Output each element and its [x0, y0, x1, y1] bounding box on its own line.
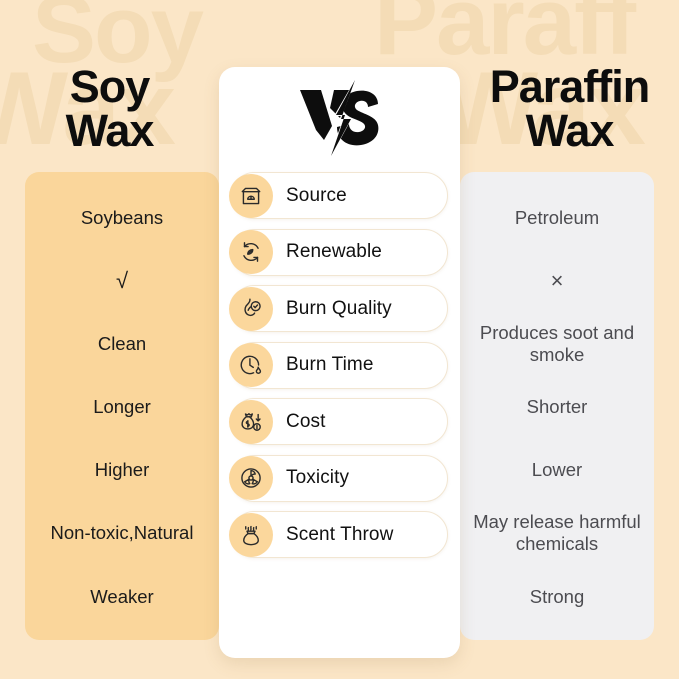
row-label-toxicity: Toxicity: [286, 467, 349, 489]
left-value-renewable: √: [35, 249, 209, 312]
row-label-burn-quality: Burn Quality: [286, 298, 392, 320]
money-bag-arrow-icon: [229, 400, 273, 444]
row-scent-throw[interactable]: Scent Throw: [231, 511, 448, 558]
left-title: Soy Wax: [0, 65, 219, 153]
row-toxicity[interactable]: Toxicity: [231, 455, 448, 502]
comparison-center-card: Source Renewable: [219, 67, 460, 658]
recycle-leaf-icon: [229, 230, 273, 274]
row-burn-quality[interactable]: Burn Quality: [231, 285, 448, 332]
soy-wax-values-panel: Soybeans √ Clean Longer Higher Non-toxic…: [25, 172, 219, 640]
row-label-renewable: Renewable: [286, 241, 382, 263]
right-value-burn-time: Shorter: [470, 375, 644, 438]
biohazard-icon: [229, 456, 273, 500]
left-value-toxicity: Non-toxic,Natural: [35, 502, 209, 565]
vs-logo: [219, 67, 460, 172]
right-title-line1: Paraffin: [460, 65, 679, 109]
row-cost[interactable]: Cost: [231, 398, 448, 445]
soybean-sack-icon: [229, 174, 273, 218]
scent-sachet-icon: [229, 513, 273, 557]
right-value-source: Petroleum: [470, 186, 644, 249]
right-title: Paraffin Wax: [460, 65, 679, 153]
clock-flame-icon: [229, 343, 273, 387]
row-burn-time[interactable]: Burn Time: [231, 342, 448, 389]
left-title-line2: Wax: [0, 109, 219, 153]
left-title-line1: Soy: [0, 65, 219, 109]
left-value-burn-quality: Clean: [35, 312, 209, 375]
row-label-source: Source: [286, 185, 347, 207]
right-value-burn-quality: Produces soot and smoke: [470, 312, 644, 375]
row-label-cost: Cost: [286, 411, 325, 433]
right-value-cost: Lower: [470, 439, 644, 502]
row-label-burn-time: Burn Time: [286, 354, 374, 376]
row-label-scent-throw: Scent Throw: [286, 524, 393, 546]
right-value-scent-throw: Strong: [470, 565, 644, 628]
left-value-source: Soybeans: [35, 186, 209, 249]
left-value-burn-time: Longer: [35, 375, 209, 438]
left-value-cost: Higher: [35, 439, 209, 502]
row-renewable[interactable]: Renewable: [231, 229, 448, 276]
watermark-paraffin: Paraff: [374, 0, 634, 66]
right-value-renewable: ×: [470, 249, 644, 312]
attribute-rows: Source Renewable: [219, 172, 460, 558]
flame-check-icon: [229, 287, 273, 331]
right-value-toxicity: May release harmful chemicals: [470, 502, 644, 565]
paraffin-wax-values-panel: Petroleum × Produces soot and smoke Shor…: [460, 172, 654, 640]
left-value-scent-throw: Weaker: [35, 565, 209, 628]
right-title-line2: Wax: [460, 109, 679, 153]
row-source[interactable]: Source: [231, 172, 448, 219]
